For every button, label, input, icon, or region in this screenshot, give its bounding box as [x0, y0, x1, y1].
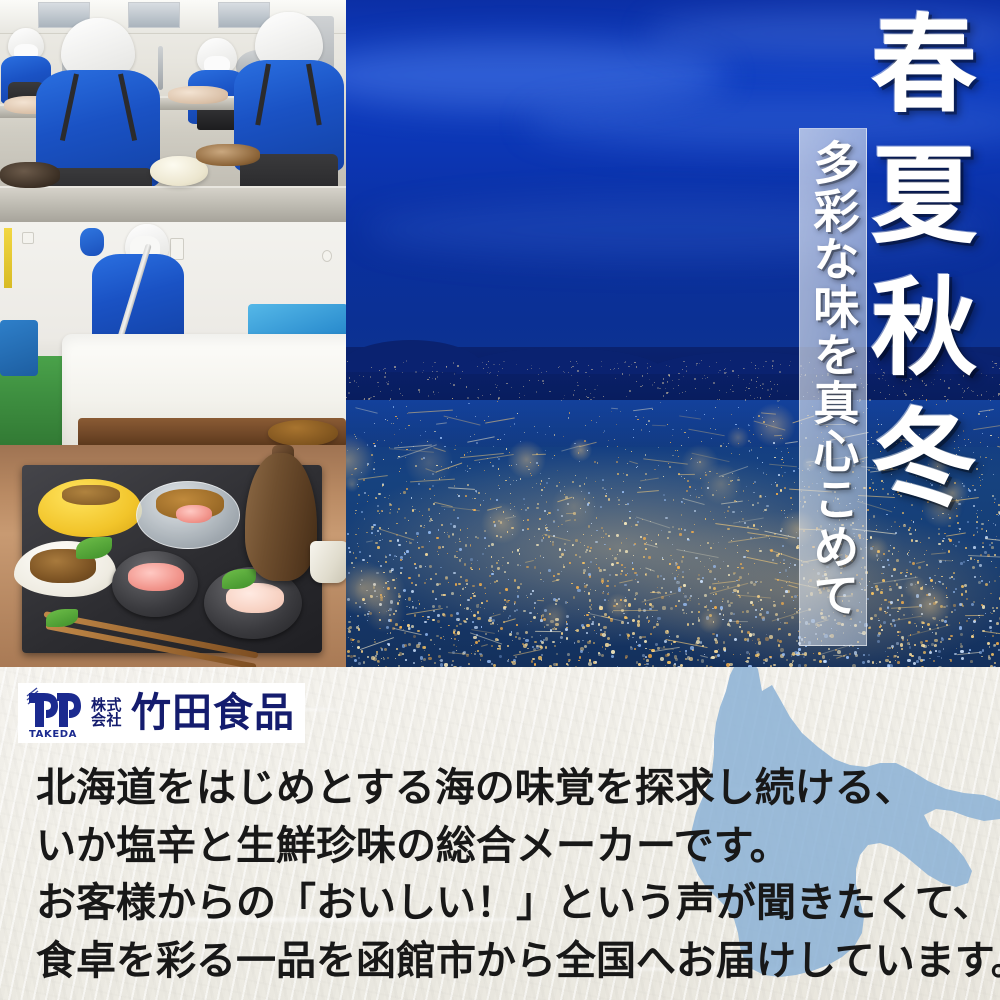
photo-factory-line	[0, 0, 346, 222]
season-char-spring: 春	[871, 12, 977, 118]
photo-seafood-dishes	[0, 445, 346, 667]
copy-line-3: お客様からの「おいしい！」という声が聞きたくて、	[36, 874, 986, 932]
company-description-section: TAKEDA 株式 会社 竹田食品 北海道をはじめとする海の味覚を探求し続ける、…	[0, 667, 1000, 1000]
photo-mixing-vat	[0, 222, 346, 445]
logo-kabushiki-kaisha: 株式 会社	[91, 698, 122, 729]
company-logo: TAKEDA 株式 会社 竹田食品	[18, 683, 305, 743]
vertical-caption-text: 多彩な味を真心こめて	[809, 139, 858, 619]
photo-column	[0, 0, 346, 667]
svg-text:TAKEDA: TAKEDA	[29, 729, 77, 739]
copy-line-4: 食卓を彩る一品を函館市から全国へお届けしています。	[36, 932, 986, 990]
season-char-autumn: 秋	[871, 275, 977, 381]
company-description-copy: 北海道をはじめとする海の味覚を探求し続ける、 いか塩辛と生鮮珍味の総合メーカーで…	[36, 759, 986, 989]
season-char-summer: 夏	[871, 143, 977, 249]
promo-banner: 多彩な味を真心こめて 春 夏 秋 冬	[0, 0, 1000, 1000]
logo-kaisha: 会社	[91, 713, 122, 728]
logo-company-name: 竹田食品	[131, 693, 295, 733]
vertical-caption-panel: 多彩な味を真心こめて	[799, 128, 867, 646]
hero-image-band: 多彩な味を真心こめて 春 夏 秋 冬	[0, 0, 1000, 667]
season-title: 春 夏 秋 冬	[864, 12, 984, 512]
copy-line-2: いか塩辛と生鮮珍味の総合メーカーです。	[36, 817, 986, 875]
season-char-winter: 冬	[871, 406, 977, 512]
copy-line-1: 北海道をはじめとする海の味覚を探求し続ける、	[36, 759, 986, 817]
takeda-logo-mark: TAKEDA	[24, 687, 82, 739]
